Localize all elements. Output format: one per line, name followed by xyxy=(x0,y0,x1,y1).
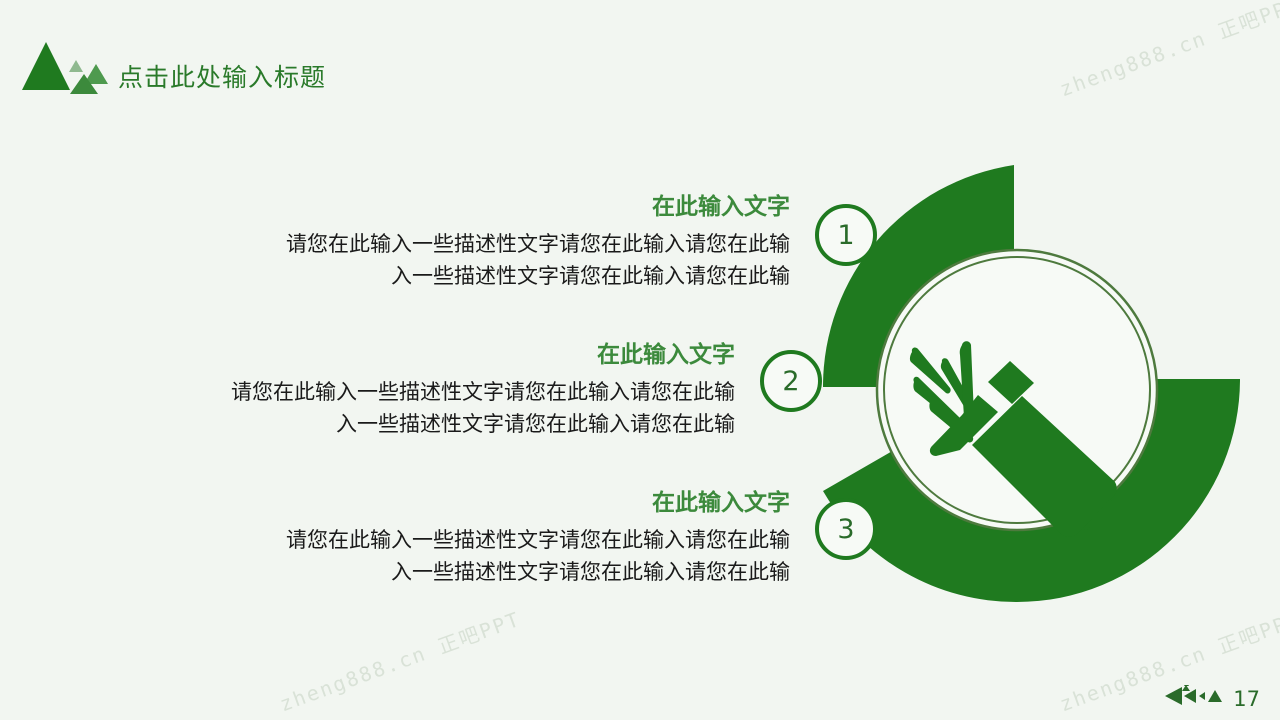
prev-arrow-large-icon xyxy=(1165,687,1182,705)
prev-arrow-medium-icon xyxy=(1184,689,1196,703)
next-arrow-up-icon xyxy=(1208,690,1222,702)
watermark-bottom-left: zheng888.cn 正吧PPT xyxy=(275,603,524,717)
step-heading-1[interactable]: 在此输入文字 xyxy=(90,193,790,222)
mountain-triangles-logo xyxy=(20,36,120,98)
step-badge-3[interactable]: 3 xyxy=(815,498,877,560)
step-heading-3[interactable]: 在此输入文字 xyxy=(90,489,790,518)
step-body-3-line-2[interactable]: 入一些描述性文字请您在此输入请您在此输 xyxy=(90,557,790,589)
step-body-2-line-1[interactable]: 请您在此输入一些描述性文字请您在此输入请您在此输 xyxy=(40,377,735,409)
logo-triangle-tiny xyxy=(69,60,83,72)
step-body-2-line-2[interactable]: 入一些描述性文字请您在此输入请您在此输 xyxy=(40,409,735,441)
page-title: 点击此处输入标题 xyxy=(118,58,326,94)
step-badge-1[interactable]: 1 xyxy=(815,204,877,266)
slide-header: 点击此处输入标题 xyxy=(0,0,1280,120)
step-text-block-2: 在此输入文字 请您在此输入一些描述性文字请您在此输入请您在此输 入一些描述性文字… xyxy=(40,341,735,441)
step-badge-2-number: 2 xyxy=(782,366,799,397)
step-text-block-1: 在此输入文字 请您在此输入一些描述性文字请您在此输入请您在此输 入一些描述性文字… xyxy=(90,193,790,293)
center-graphic xyxy=(810,150,1260,610)
pager-arrows-icon[interactable] xyxy=(1165,685,1227,712)
step-badge-3-number: 3 xyxy=(837,514,854,545)
step-text-block-3: 在此输入文字 请您在此输入一些描述性文字请您在此输入请您在此输 入一些描述性文字… xyxy=(90,489,790,589)
step-body-3-line-1[interactable]: 请您在此输入一些描述性文字请您在此输入请您在此输 xyxy=(90,525,790,557)
step-heading-2[interactable]: 在此输入文字 xyxy=(40,341,735,370)
step-badge-2[interactable]: 2 xyxy=(760,350,822,412)
prev-arrow-tiny-icon xyxy=(1199,692,1205,700)
step-body-1-line-1[interactable]: 请您在此输入一些描述性文字请您在此输入请您在此输 xyxy=(90,229,790,261)
logo-triangle-large xyxy=(22,42,70,90)
slide-footer: 17 xyxy=(1165,685,1260,712)
step-badge-1-number: 1 xyxy=(837,220,854,251)
page-number: 17 xyxy=(1233,687,1260,711)
step-body-1-line-2[interactable]: 入一些描述性文字请您在此输入请您在此输 xyxy=(90,261,790,293)
